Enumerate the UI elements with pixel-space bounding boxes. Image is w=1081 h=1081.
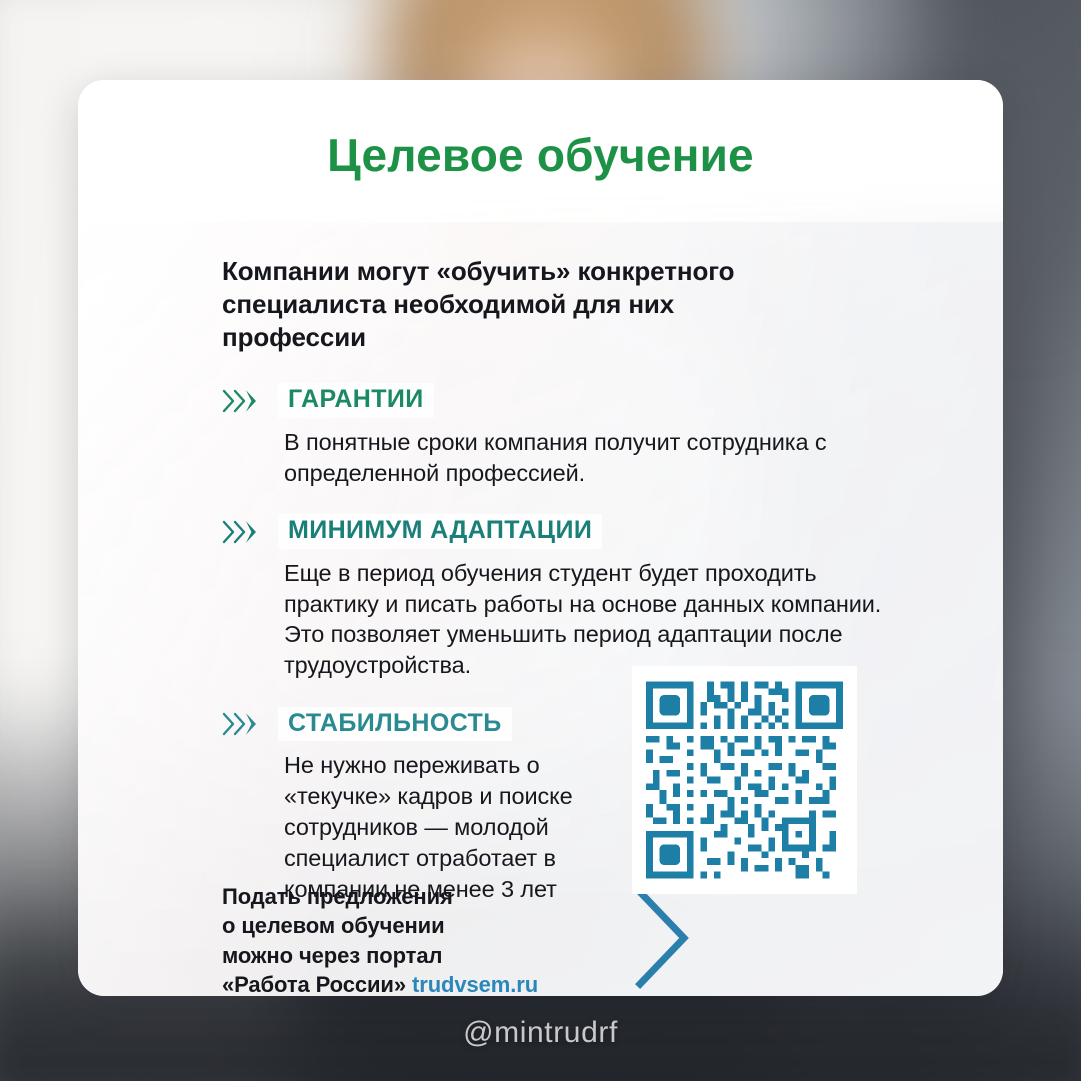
account-watermark: @mintrudrf — [0, 1016, 1081, 1050]
feature-header: СТАБИЛЬНОСТЬ — [222, 707, 1003, 742]
feature-title: ГАРАНТИИ — [278, 383, 434, 418]
qr-code-block[interactable] — [632, 666, 857, 894]
triple-chevron-icon — [222, 388, 262, 414]
feature-title: СТАБИЛЬНОСТЬ — [278, 707, 512, 742]
feature-body: Еще в период обучения студент будет прох… — [284, 558, 884, 681]
triple-chevron-icon — [222, 711, 262, 737]
cta-text-block: Подать предложения о целевом обучении мо… — [222, 882, 582, 996]
feature-header: ГАРАНТИИ — [222, 383, 1003, 418]
cta-line-1: Подать предложения — [222, 882, 582, 911]
lede-text: Компании могут «обучить» конкретного спе… — [222, 255, 822, 353]
feature-item-adaptation: МИНИМУМ АДАПТАЦИИ Еще в период обучения … — [222, 514, 1003, 681]
feature-body: В понятные сроки компания получит сотруд… — [284, 427, 884, 489]
feature-item-stability: СТАБИЛЬНОСТЬ Не нужно переживать о «теку… — [222, 707, 1003, 904]
feature-header: МИНИМУМ АДАПТАЦИИ — [222, 514, 1003, 549]
cta-line-3: можно через портал — [222, 941, 582, 970]
feature-item-guarantees: ГАРАНТИИ В понятные сроки компания получ… — [222, 383, 1003, 488]
feature-list: ГАРАНТИИ В понятные сроки компания получ… — [222, 383, 1003, 904]
card-content: Компании могут «обучить» конкретного спе… — [78, 80, 1003, 996]
cta-portal-name: «Работа России» — [222, 972, 412, 996]
cta-line-4: «Работа России» trudvsem.ru — [222, 970, 582, 996]
info-card: Целевое обучение Компании могут «обучить… — [78, 80, 1003, 996]
feature-title: МИНИМУМ АДАПТАЦИИ — [278, 514, 602, 549]
cta-line-2: о целевом обучении — [222, 911, 582, 940]
triple-chevron-icon — [222, 519, 262, 545]
poster-stage: Целевое обучение Компании могут «обучить… — [0, 0, 1081, 1081]
portal-link[interactable]: trudvsem.ru — [412, 972, 538, 996]
qr-code-icon[interactable] — [646, 680, 843, 880]
chevron-right-icon — [632, 886, 694, 990]
